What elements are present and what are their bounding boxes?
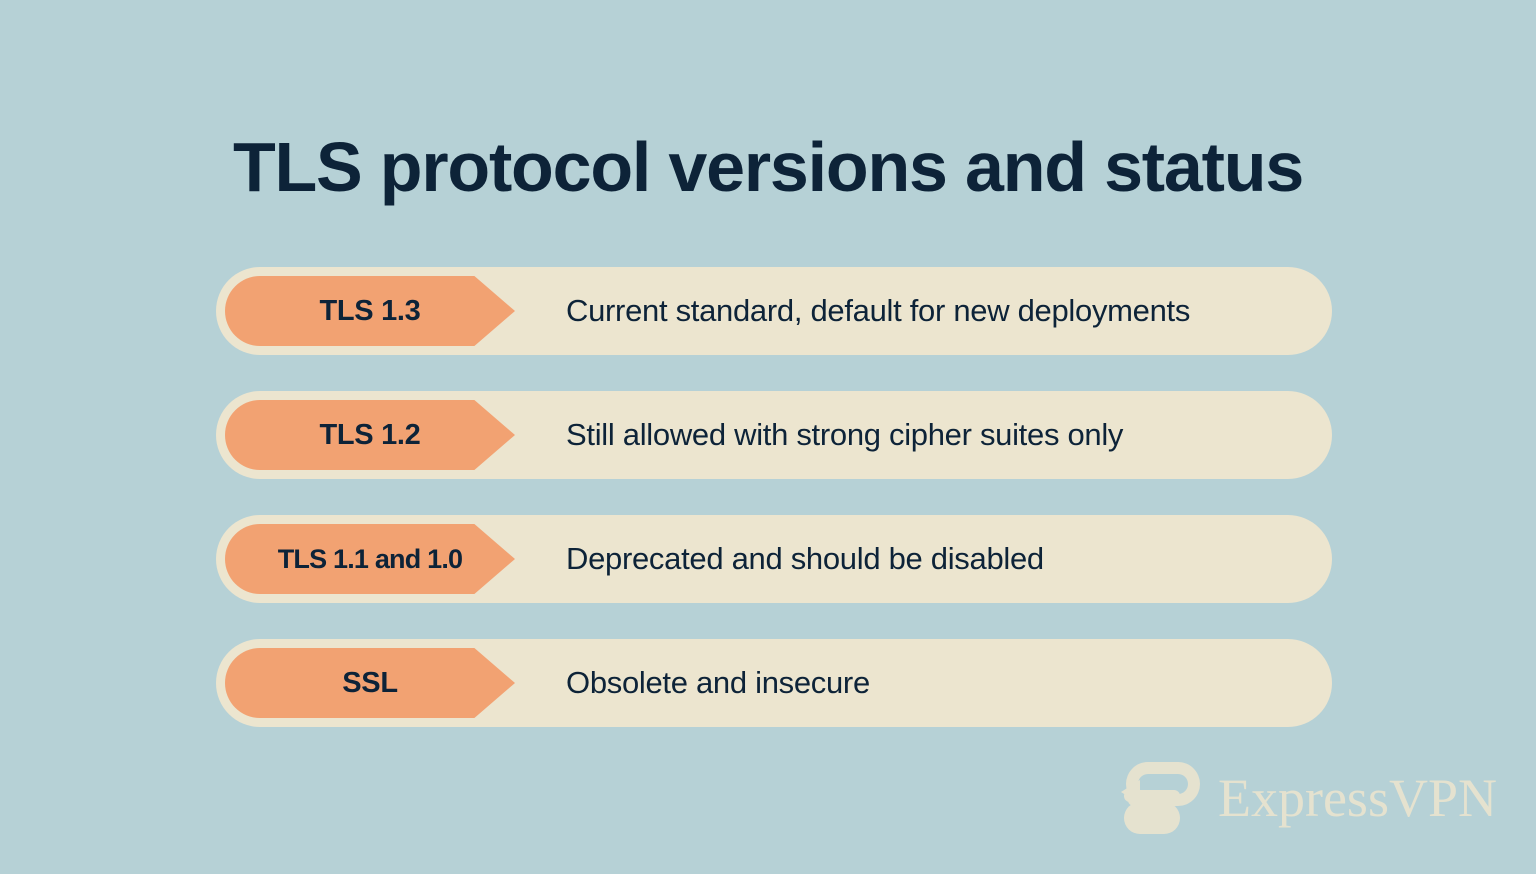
- protocol-badge-2: TLS 1.2: [225, 400, 515, 470]
- protocol-description: Current standard, default for new deploy…: [566, 293, 1292, 329]
- protocol-description: Deprecated and should be disabled: [566, 541, 1292, 577]
- list-item: TLS 1.2 Still allowed with strong cipher…: [216, 391, 1332, 479]
- protocol-badge-1: TLS 1.3: [225, 276, 515, 346]
- infographic-canvas: TLS protocol versions and status TLS 1.3…: [0, 0, 1536, 874]
- protocol-badge-label: TLS 1.1 and 1.0: [244, 544, 496, 575]
- protocol-badge-4: SSL: [225, 648, 515, 718]
- protocol-badge-3: TLS 1.1 and 1.0: [225, 524, 515, 594]
- list-item: TLS 1.1 and 1.0 Deprecated and should be…: [216, 515, 1332, 603]
- expressvpn-wordmark: ExpressVPN: [1218, 771, 1497, 825]
- expressvpn-logo: ExpressVPN: [1118, 760, 1497, 836]
- page-title: TLS protocol versions and status: [0, 130, 1536, 206]
- list-item: TLS 1.3 Current standard, default for ne…: [216, 267, 1332, 355]
- list-item: SSL Obsolete and insecure: [216, 639, 1332, 727]
- protocol-badge-label: TLS 1.3: [244, 295, 496, 328]
- expressvpn-e-logo-icon: [1118, 760, 1204, 836]
- protocol-badge-label: SSL: [244, 667, 496, 700]
- protocol-badge-label: TLS 1.2: [244, 419, 496, 452]
- protocol-description: Still allowed with strong cipher suites …: [566, 417, 1292, 453]
- protocol-list: TLS 1.3 Current standard, default for ne…: [216, 267, 1332, 727]
- protocol-description: Obsolete and insecure: [566, 665, 1292, 701]
